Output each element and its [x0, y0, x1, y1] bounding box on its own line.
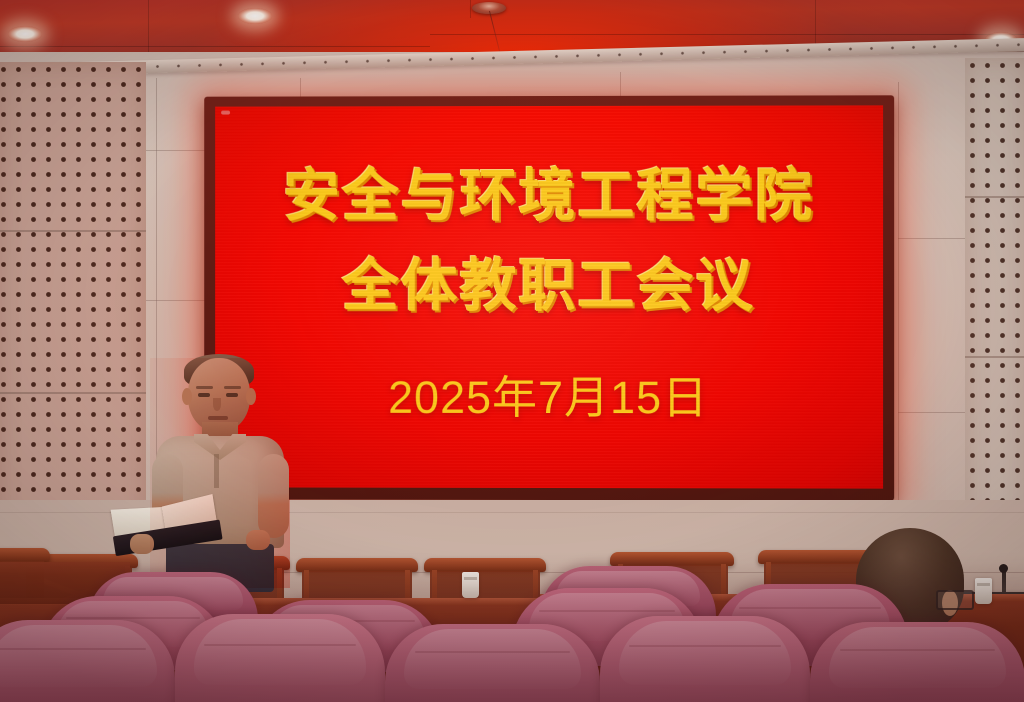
chair-top-rail [610, 552, 734, 566]
seat-r1-b [175, 614, 385, 702]
ceiling-sprinkler-icon [472, 2, 506, 14]
downlight-center-left [238, 8, 272, 24]
chair-top-rail [296, 558, 418, 572]
seat-r1-d [600, 616, 810, 702]
perf-panel-seam [965, 356, 1024, 358]
speaker-arm-right [258, 454, 289, 538]
ceiling-seam [0, 46, 430, 47]
water-cup-3 [975, 578, 992, 604]
speaker-mouth [208, 416, 228, 420]
speaker-shirt-placket [214, 454, 219, 488]
perf-panel-seam [0, 392, 146, 394]
standing-speaker [150, 358, 290, 588]
seat-r1-c [385, 624, 600, 702]
conference-mic-2-stem [1002, 570, 1006, 594]
ceiling-seam [815, 0, 816, 44]
led-screen-frame: 安全与环境工程学院 全体教职工会议 2025年7月15日 [204, 95, 894, 500]
chair-top-rail [424, 558, 546, 572]
seat-r1-a [0, 620, 175, 702]
wall-panel-seam [898, 82, 899, 512]
speaker-ear-right [246, 388, 256, 405]
seat-crease [629, 645, 780, 647]
seat-crease [0, 648, 146, 650]
speaker-brow-right [224, 386, 241, 389]
conference-hall-photo: 安全与环境工程学院 全体教职工会议 2025年7月15日 [0, 0, 1024, 702]
ceiling-seam [430, 34, 1024, 35]
seat-highlight [619, 621, 791, 685]
seat-crease [539, 610, 676, 612]
wall-panel-seam [620, 72, 621, 98]
screen-title-line-2: 全体教职工会议 [342, 251, 755, 321]
speaker-nose [213, 398, 221, 411]
water-cup-2 [462, 572, 479, 598]
perf-panel-seam [0, 230, 146, 232]
speaker-hand-left [130, 534, 154, 554]
seat-crease [204, 644, 355, 646]
screen-date-line: 2025年7月15日 [388, 361, 708, 426]
speaker-ear-left [182, 388, 192, 405]
seat-highlight [194, 619, 366, 685]
seat-crease [415, 651, 570, 653]
seat-highlight [829, 627, 1005, 688]
wall-panel-seam [898, 238, 968, 239]
seat-crease [840, 649, 995, 651]
downlight-left [8, 26, 42, 42]
conference-mic-2-head [999, 564, 1008, 573]
led-screen: 安全与环境工程学院 全体教职工会议 2025年7月15日 [215, 105, 883, 488]
chair-top-rail [0, 548, 50, 562]
speaker-eye-left [198, 393, 210, 397]
ceiling-seam [470, 0, 471, 18]
speaker-hand-right [246, 530, 270, 550]
speaker-eye-right [226, 393, 238, 397]
seat-highlight [0, 625, 157, 687]
seat-crease [66, 617, 200, 619]
perf-panel-seam [965, 196, 1024, 198]
attendee-glasses [936, 590, 974, 610]
speaker-brow-left [196, 386, 213, 389]
seat-highlight [404, 629, 580, 689]
wall-panel-seam [898, 412, 968, 413]
seat-crease [739, 607, 880, 609]
screen-title-line-1: 安全与环境工程学院 [283, 162, 814, 232]
seat-r1-e [810, 622, 1024, 702]
led-screen-content: 安全与环境工程学院 全体教职工会议 2025年7月15日 [215, 105, 883, 488]
